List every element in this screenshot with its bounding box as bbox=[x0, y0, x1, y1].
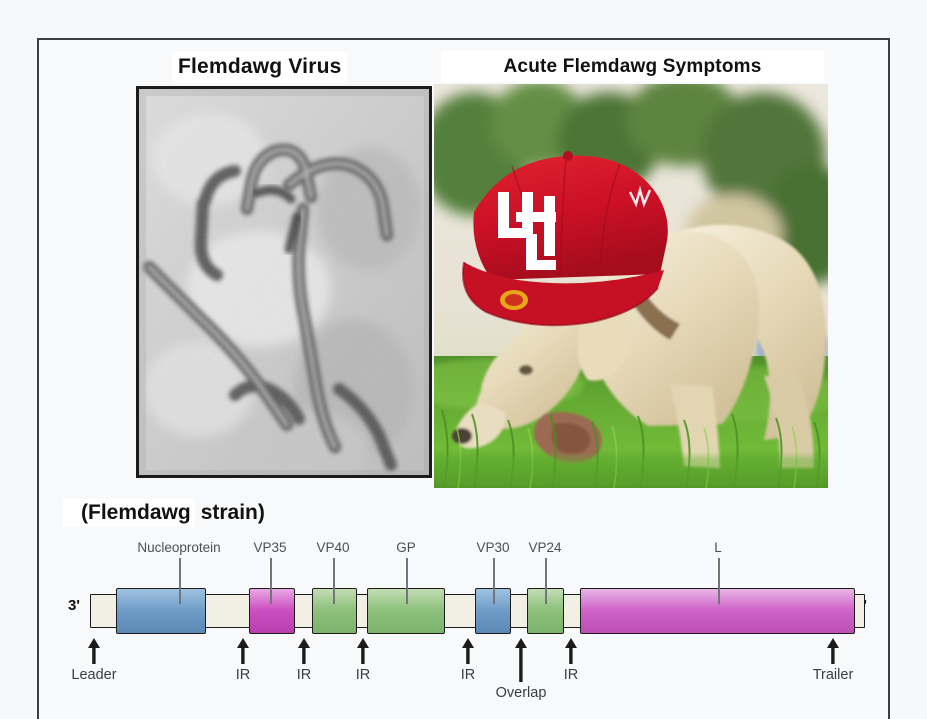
gene-label-vp35: VP35 bbox=[253, 540, 286, 555]
virus-panel-title: Flemdawg Virus bbox=[172, 52, 347, 83]
marker-label-ir-2: IR bbox=[297, 667, 312, 683]
gene-tick-gp bbox=[406, 558, 408, 604]
gene-tick-vp35 bbox=[270, 558, 272, 604]
genome-title-rest: strain) bbox=[195, 501, 265, 524]
gene-label-vp30: VP30 bbox=[476, 540, 509, 555]
marker-label-overlap-5: Overlap bbox=[496, 685, 547, 701]
virus-title-highlight: Flemdawg bbox=[178, 55, 282, 78]
marker-arrow-leader-0 bbox=[87, 638, 101, 664]
gene-label-gp: GP bbox=[396, 540, 416, 555]
gene-box-nucleoprotein bbox=[116, 588, 206, 634]
marker-arrow-ir-3 bbox=[356, 638, 370, 664]
virus-title-rest: Virus bbox=[282, 55, 341, 78]
marker-arrow-trailer-7 bbox=[826, 638, 840, 664]
marker-label-ir-6: IR bbox=[564, 667, 579, 683]
gene-tick-vp24 bbox=[545, 558, 547, 604]
gene-label-vp40: VP40 bbox=[316, 540, 349, 555]
marker-arrow-ir-1 bbox=[236, 638, 250, 664]
filovirus-genome-diagram: 3' 5' NucleoproteinVP35VP40GPVP30VP24L L… bbox=[37, 540, 890, 719]
marker-arrow-ir-2 bbox=[297, 638, 311, 664]
genome-diagram-title: (Flemdawgstrain) bbox=[63, 501, 265, 525]
symptoms-panel-title: Acute Flemdawg Symptoms bbox=[441, 51, 824, 82]
gene-tick-vp30 bbox=[493, 558, 495, 604]
gene-label-l: L bbox=[714, 540, 722, 555]
genome-3prime-label: 3' bbox=[68, 597, 80, 614]
slide-canvas: Flemdawg Virus Acute Flemdawg Symptoms bbox=[0, 0, 927, 719]
marker-label-ir-4: IR bbox=[461, 667, 476, 683]
marker-label-ir-1: IR bbox=[236, 667, 251, 683]
gene-label-vp24: VP24 bbox=[528, 540, 561, 555]
marker-label-ir-3: IR bbox=[356, 667, 371, 683]
gene-tick-l bbox=[718, 558, 720, 604]
gene-tick-vp40 bbox=[333, 558, 335, 604]
marker-arrow-ir-4 bbox=[461, 638, 475, 664]
genome-title-highlight: (Flemdawg bbox=[63, 499, 195, 527]
gene-tick-nucleoprotein bbox=[179, 558, 181, 604]
marker-arrow-ir-6 bbox=[564, 638, 578, 664]
dog-photo-image bbox=[434, 84, 828, 488]
gene-box-vp40 bbox=[312, 588, 357, 634]
micrograph-image bbox=[139, 89, 431, 477]
gene-label-nucleoprotein: Nucleoprotein bbox=[137, 540, 220, 555]
filovirus-electron-micrograph bbox=[136, 86, 432, 478]
marker-arrow-overlap-5 bbox=[514, 638, 528, 682]
marker-label-trailer-7: Trailer bbox=[813, 667, 854, 683]
gene-box-vp35 bbox=[249, 588, 295, 634]
marker-label-leader-0: Leader bbox=[71, 667, 116, 683]
dog-symptom-photo bbox=[434, 84, 828, 488]
